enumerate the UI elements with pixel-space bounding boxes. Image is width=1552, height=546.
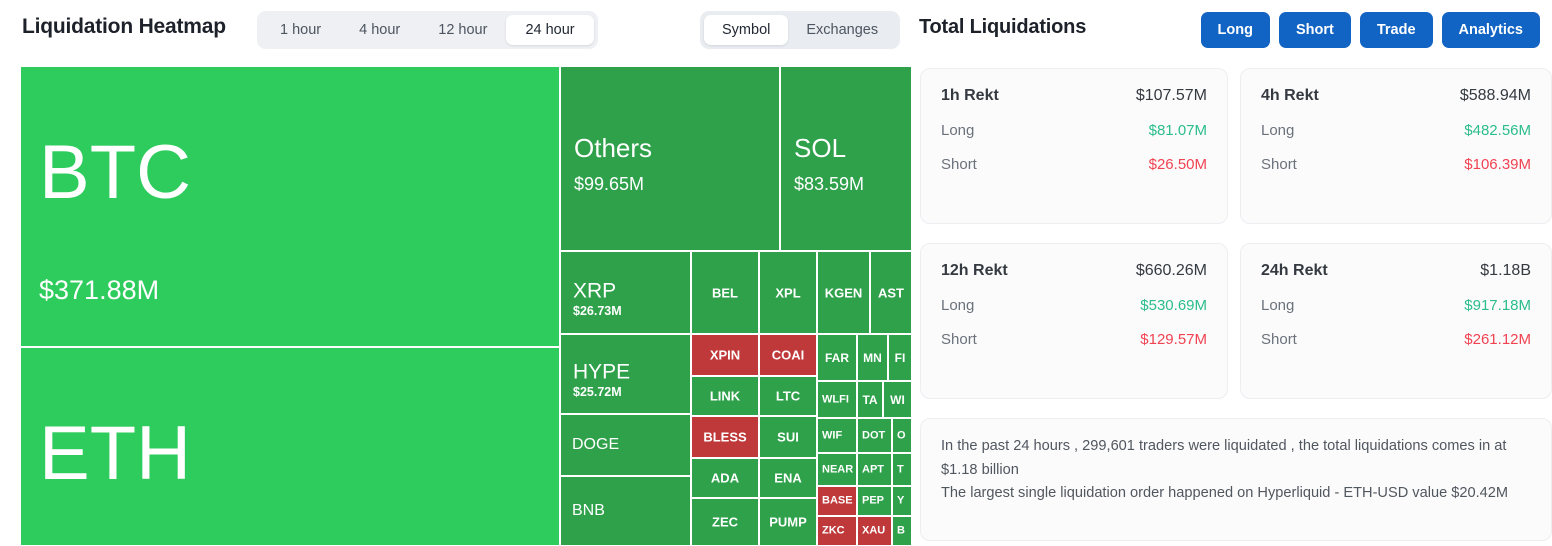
card-row: Short$261.12M: [1261, 331, 1531, 348]
trade-button[interactable]: Trade: [1360, 12, 1433, 48]
tile-symbol: DOT: [862, 430, 885, 441]
long-value: $81.07M: [1149, 122, 1207, 139]
short-value: $26.50M: [1149, 156, 1207, 173]
analytics-button[interactable]: Analytics: [1442, 12, 1540, 48]
card-total-value: $107.57M: [1136, 87, 1207, 105]
short-value: $129.57M: [1140, 331, 1207, 348]
page-title: Liquidation Heatmap: [22, 15, 226, 39]
treemap-tile-wlfi[interactable]: WLFI: [817, 381, 857, 418]
card-total-value: $660.26M: [1136, 262, 1207, 280]
treemap-tile-zec[interactable]: ZEC: [691, 498, 759, 546]
card-row: Long$81.07M: [941, 122, 1207, 139]
tile-symbol: XPIN: [710, 349, 740, 362]
treemap-tile-pep[interactable]: PEP: [857, 486, 892, 516]
timeframe-tab-1-hour[interactable]: 1 hour: [261, 15, 340, 45]
card-row: Short$106.39M: [1261, 156, 1531, 173]
short-value: $261.12M: [1464, 331, 1531, 348]
card-title: 1h Rekt: [941, 87, 999, 105]
tile-symbol: APT: [862, 464, 884, 475]
treemap-tile-sol[interactable]: SOL$83.59M: [780, 66, 912, 251]
timeframe-tab-group[interactable]: 1 hour4 hour12 hour24 hour: [257, 11, 598, 49]
treemap-tile-far[interactable]: FAR: [817, 334, 857, 381]
tile-symbol: XRP: [573, 280, 616, 301]
top-toolbar: Liquidation Heatmap 1 hour4 hour12 hour2…: [0, 0, 1552, 60]
long-value: $482.56M: [1464, 122, 1531, 139]
summary-panel: In the past 24 hours , 299,601 traders w…: [920, 418, 1552, 541]
short-button[interactable]: Short: [1279, 12, 1351, 48]
tile-symbol: Y: [897, 496, 904, 507]
tile-symbol: ZKC: [822, 526, 845, 537]
tile-value: $83.59M: [794, 175, 864, 193]
tile-symbol: NEAR: [822, 464, 853, 475]
treemap-tile-sui[interactable]: SUI: [759, 416, 817, 458]
grouping-tab-group[interactable]: SymbolExchanges: [700, 11, 900, 49]
short-label: Short: [1261, 331, 1297, 348]
treemap-tile-apt[interactable]: APT: [857, 453, 892, 486]
tile-symbol: BASE: [822, 496, 853, 507]
tile-symbol: BTC: [39, 135, 191, 211]
treemap-tile-o[interactable]: O: [892, 418, 912, 453]
liquidation-heatmap-page: Liquidation Heatmap 1 hour4 hour12 hour2…: [0, 0, 1552, 546]
treemap-tile-near[interactable]: NEAR: [817, 453, 857, 486]
card-row: Long$530.69M: [941, 297, 1207, 314]
card-row: 1h Rekt$107.57M: [941, 87, 1207, 105]
treemap-tile-wi[interactable]: WI: [883, 381, 912, 418]
short-value: $106.39M: [1464, 156, 1531, 173]
tile-symbol: LTC: [776, 390, 800, 403]
tile-symbol: XPL: [775, 286, 800, 299]
treemap-tile-bless[interactable]: BLESS: [691, 416, 759, 458]
tile-symbol: SOL: [794, 135, 846, 161]
timeframe-tab-24-hour[interactable]: 24 hour: [506, 15, 593, 45]
tile-symbol: FI: [895, 352, 906, 364]
long-value: $917.18M: [1464, 297, 1531, 314]
rekt-card-12h: 12h Rekt$660.26MLong$530.69MShort$129.57…: [920, 243, 1228, 399]
tile-symbol: BEL: [712, 286, 738, 299]
treemap-tile-b[interactable]: B: [892, 516, 912, 546]
tile-symbol: WI: [890, 394, 905, 406]
long-label: Long: [1261, 122, 1294, 139]
treemap-tile-ast[interactable]: AST: [870, 251, 912, 334]
tile-symbol: SUI: [777, 431, 799, 444]
tile-symbol: ENA: [774, 472, 801, 485]
treemap-tile-mn[interactable]: MN: [857, 334, 888, 381]
tile-symbol: B: [897, 526, 905, 537]
card-title: 4h Rekt: [1261, 87, 1319, 105]
tile-symbol: WLFI: [822, 394, 849, 405]
tile-symbol: MN: [863, 352, 882, 364]
liquidation-treemap[interactable]: BTC$371.88METH$252.33MOthers$99.65MSOL$8…: [20, 66, 912, 546]
long-value: $530.69M: [1140, 297, 1207, 314]
treemap-tile-fi[interactable]: FI: [888, 334, 912, 381]
tile-symbol: ZEC: [712, 516, 738, 529]
tile-symbol: BLESS: [703, 431, 746, 444]
treemap-tile-ena[interactable]: ENA: [759, 458, 817, 498]
tile-value: $25.72M: [573, 386, 622, 399]
tile-symbol: T: [897, 464, 904, 475]
card-total-value: $588.94M: [1460, 87, 1531, 105]
treemap-tile-xau[interactable]: XAU: [857, 516, 892, 546]
card-row: 12h Rekt$660.26M: [941, 262, 1207, 280]
treemap-tile-bnb[interactable]: BNB: [560, 476, 691, 546]
long-button[interactable]: Long: [1201, 12, 1270, 48]
treemap-tile-xpl[interactable]: XPL: [759, 251, 817, 334]
treemap-tile-wif[interactable]: WIF: [817, 418, 857, 453]
card-row: Long$482.56M: [1261, 122, 1531, 139]
treemap-tile-doge[interactable]: DOGE: [560, 414, 691, 476]
card-row: Short$129.57M: [941, 331, 1207, 348]
total-liquidations-title: Total Liquidations: [919, 16, 1086, 39]
tile-symbol: FAR: [825, 352, 849, 364]
timeframe-tab-4-hour[interactable]: 4 hour: [340, 15, 419, 45]
tile-value: $26.73M: [573, 305, 622, 318]
tile-symbol: ADA: [711, 472, 739, 485]
short-label: Short: [1261, 156, 1297, 173]
card-total-value: $1.18B: [1480, 262, 1531, 280]
tile-symbol: KGEN: [825, 286, 863, 299]
treemap-tile-dot[interactable]: DOT: [857, 418, 892, 453]
tile-symbol: ETH: [39, 416, 191, 492]
treemap-tile-hype[interactable]: HYPE$25.72M: [560, 334, 691, 414]
long-label: Long: [1261, 297, 1294, 314]
treemap-tile-others[interactable]: Others$99.65M: [560, 66, 780, 251]
treemap-tile-ta[interactable]: TA: [857, 381, 883, 418]
long-label: Long: [941, 297, 974, 314]
summary-line-1: In the past 24 hours , 299,601 traders w…: [941, 435, 1531, 482]
rekt-card-4h: 4h Rekt$588.94MLong$482.56MShort$106.39M: [1240, 68, 1552, 224]
card-row: Short$26.50M: [941, 156, 1207, 173]
tile-symbol: AST: [878, 286, 904, 299]
tile-symbol: LINK: [710, 390, 740, 403]
treemap-tile-coai[interactable]: COAI: [759, 334, 817, 376]
tile-value: $99.65M: [574, 175, 644, 193]
tile-value: $371.88M: [39, 277, 159, 304]
card-row: 4h Rekt$588.94M: [1261, 87, 1531, 105]
tile-symbol: TA: [862, 394, 877, 406]
tile-symbol: O: [897, 430, 906, 441]
tile-symbol: DOGE: [572, 437, 619, 453]
tile-symbol: BNB: [572, 503, 605, 519]
long-label: Long: [941, 122, 974, 139]
card-title: 12h Rekt: [941, 262, 1008, 280]
card-row: Long$917.18M: [1261, 297, 1531, 314]
treemap-tile-eth[interactable]: ETH$252.33M: [20, 347, 560, 546]
treemap-tile-xpin[interactable]: XPIN: [691, 334, 759, 376]
treemap-tile-xrp[interactable]: XRP$26.73M: [560, 251, 691, 334]
short-label: Short: [941, 156, 977, 173]
treemap-tile-zkc[interactable]: ZKC: [817, 516, 857, 546]
tile-symbol: XAU: [862, 526, 885, 537]
tile-symbol: Others: [574, 135, 652, 161]
summary-line-2: The largest single liquidation order hap…: [941, 482, 1531, 506]
card-row: 24h Rekt$1.18B: [1261, 262, 1531, 280]
timeframe-tab-12-hour[interactable]: 12 hour: [419, 15, 506, 45]
grouping-tab-exchanges[interactable]: Exchanges: [788, 15, 896, 45]
treemap-tile-kgen[interactable]: KGEN: [817, 251, 870, 334]
treemap-tile-base[interactable]: BASE: [817, 486, 857, 516]
tile-symbol: WIF: [822, 430, 842, 441]
tile-symbol: HYPE: [573, 361, 630, 382]
treemap-tile-t[interactable]: T: [892, 453, 912, 486]
tile-symbol: PUMP: [769, 516, 807, 529]
treemap-tile-bel[interactable]: BEL: [691, 251, 759, 334]
rekt-card-24h: 24h Rekt$1.18BLong$917.18MShort$261.12M: [1240, 243, 1552, 399]
treemap-tile-btc[interactable]: BTC$371.88M: [20, 66, 560, 347]
treemap-tile-pump[interactable]: PUMP: [759, 498, 817, 546]
short-label: Short: [941, 331, 977, 348]
card-title: 24h Rekt: [1261, 262, 1328, 280]
treemap-tile-ltc[interactable]: LTC: [759, 376, 817, 416]
treemap-tile-y[interactable]: Y: [892, 486, 912, 516]
action-button-group: LongShortTradeAnalytics: [1201, 12, 1540, 48]
tile-symbol: PEP: [862, 496, 884, 507]
treemap-tile-ada[interactable]: ADA: [691, 458, 759, 498]
rekt-card-1h: 1h Rekt$107.57MLong$81.07MShort$26.50M: [920, 68, 1228, 224]
tile-symbol: COAI: [772, 349, 805, 362]
treemap-tile-link[interactable]: LINK: [691, 376, 759, 416]
grouping-tab-symbol[interactable]: Symbol: [704, 15, 788, 45]
